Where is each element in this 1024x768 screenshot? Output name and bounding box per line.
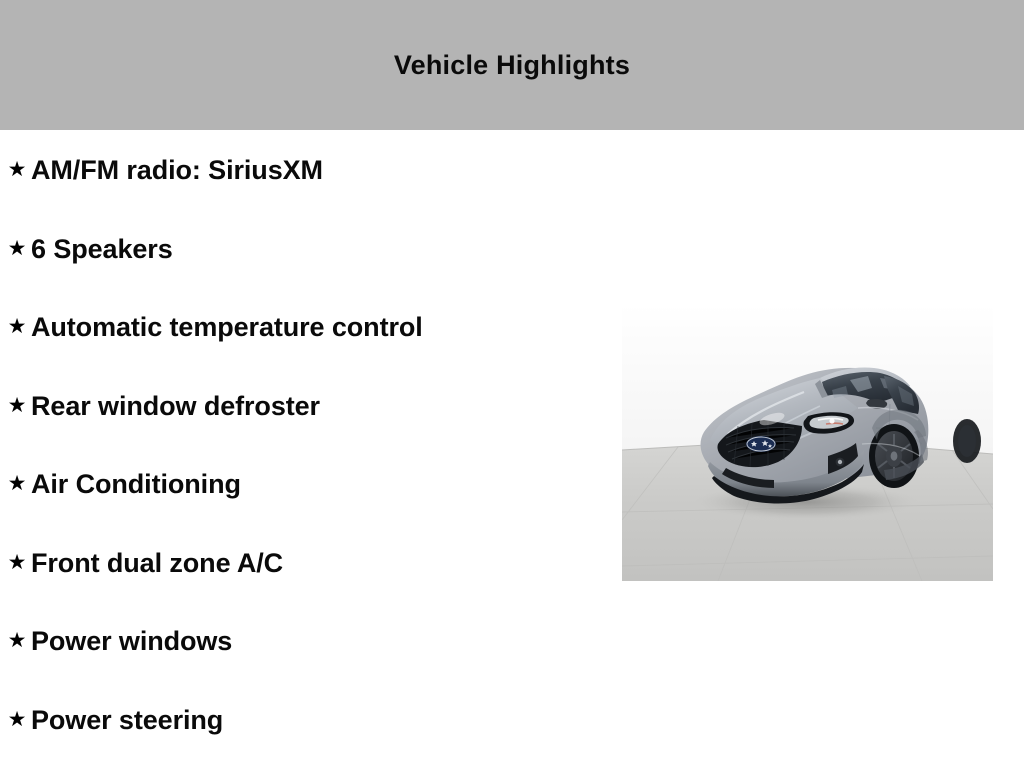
list-item: ★ Front dual zone A/C xyxy=(0,523,620,602)
star-bullet-icon: ★ xyxy=(0,313,31,341)
list-item: ★ Rear window defroster xyxy=(0,366,620,445)
star-bullet-icon: ★ xyxy=(0,706,31,734)
list-item: ★ Power windows xyxy=(0,601,620,680)
list-item: ★ 6 Speakers xyxy=(0,209,620,288)
star-bullet-icon: ★ xyxy=(0,392,31,420)
star-bullet-icon: ★ xyxy=(0,470,31,498)
vehicle-highlights-list: ★ AM/FM radio: SiriusXM ★ 6 Speakers ★ A… xyxy=(0,130,620,758)
vehicle-photo xyxy=(622,304,993,581)
vehicle-photo-image xyxy=(622,304,993,581)
star-bullet-icon: ★ xyxy=(0,627,31,655)
star-bullet-icon: ★ xyxy=(0,235,31,263)
list-item-label: Power steering xyxy=(31,706,223,734)
list-item-label: Rear window defroster xyxy=(31,392,320,420)
list-item: ★ Automatic temperature control xyxy=(0,287,620,366)
page-title: Vehicle Highlights xyxy=(0,50,1024,80)
list-item: ★ Power steering xyxy=(0,680,620,759)
header-bar: Vehicle Highlights xyxy=(0,0,1024,130)
list-item-label: Automatic temperature control xyxy=(31,313,423,341)
list-item-label: AM/FM radio: SiriusXM xyxy=(31,156,323,184)
list-item-label: 6 Speakers xyxy=(31,235,173,263)
star-bullet-icon: ★ xyxy=(0,549,31,577)
list-item-label: Air Conditioning xyxy=(31,470,241,498)
list-item: ★ AM/FM radio: SiriusXM xyxy=(0,130,620,209)
list-item-label: Front dual zone A/C xyxy=(31,549,283,577)
star-bullet-icon: ★ xyxy=(0,156,31,184)
list-item-label: Power windows xyxy=(31,627,232,655)
list-item: ★ Air Conditioning xyxy=(0,444,620,523)
